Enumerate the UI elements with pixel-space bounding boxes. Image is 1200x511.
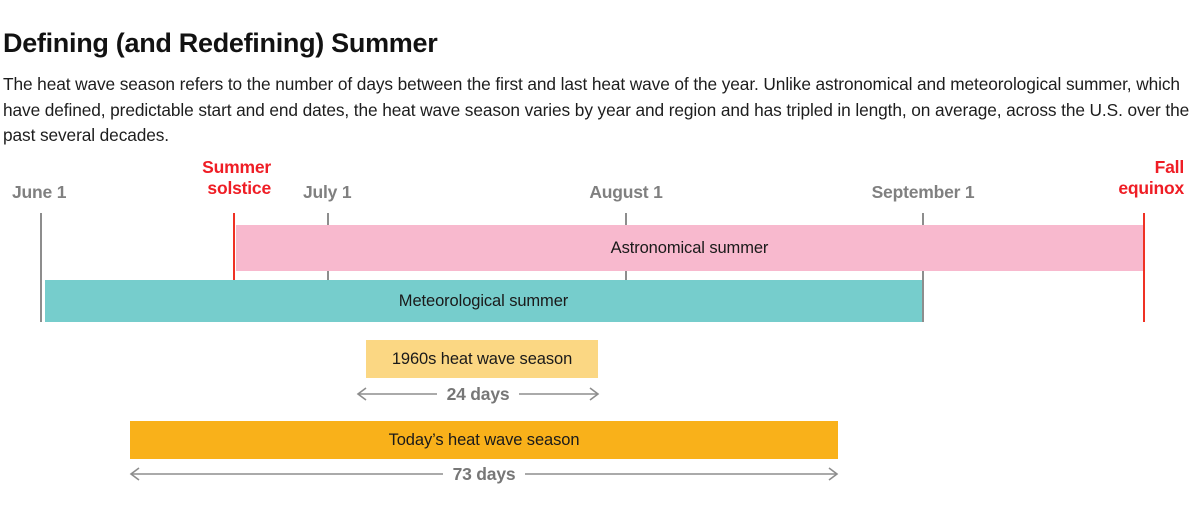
measure-73-days: 73 days	[128, 463, 840, 485]
bar-astronomical-summer: Astronomical summer	[236, 225, 1143, 271]
measure-24-days: 24 days	[355, 383, 601, 405]
axis-label-fall-equinox-line2: equinox	[1044, 178, 1184, 199]
bar-todays-heat-wave-season: Today’s heat wave season	[130, 421, 838, 459]
gridline-june-1	[40, 213, 42, 322]
axis-label-fall-equinox: Fall equinox	[1044, 157, 1184, 199]
gridline-fall-equinox	[1143, 213, 1145, 322]
axis-label-summer-solstice-line2: solstice	[135, 178, 271, 199]
bar-label-meteorological-summer: Meteorological summer	[399, 292, 568, 311]
measure-label-73-days-text: 73 days	[443, 464, 526, 484]
timeline-chart: June 1 Summer solstice July 1 August 1 S…	[0, 0, 1200, 511]
bar-1960s-heat-wave-season: 1960s heat wave season	[366, 340, 598, 378]
measure-label-24-days: 24 days	[355, 383, 601, 405]
measure-label-73-days: 73 days	[128, 463, 840, 485]
bar-label-astronomical-summer: Astronomical summer	[611, 239, 769, 258]
axis-label-july-1: July 1	[303, 182, 351, 203]
axis-label-summer-solstice-line1: Summer	[135, 157, 271, 178]
axis-label-fall-equinox-line1: Fall	[1044, 157, 1184, 178]
axis-label-august-1: August 1	[526, 182, 726, 203]
bar-label-1960s-heat-wave-season: 1960s heat wave season	[392, 350, 572, 369]
axis-label-summer-solstice: Summer solstice	[135, 157, 271, 199]
infographic-root: Defining (and Redefining) Summer The hea…	[0, 0, 1200, 511]
bar-label-todays-heat-wave-season: Today’s heat wave season	[389, 431, 580, 450]
measure-label-24-days-text: 24 days	[437, 384, 520, 404]
bar-meteorological-summer: Meteorological summer	[45, 280, 922, 322]
axis-label-september-1: September 1	[823, 182, 1023, 203]
axis-label-june-1: June 1	[12, 182, 66, 203]
